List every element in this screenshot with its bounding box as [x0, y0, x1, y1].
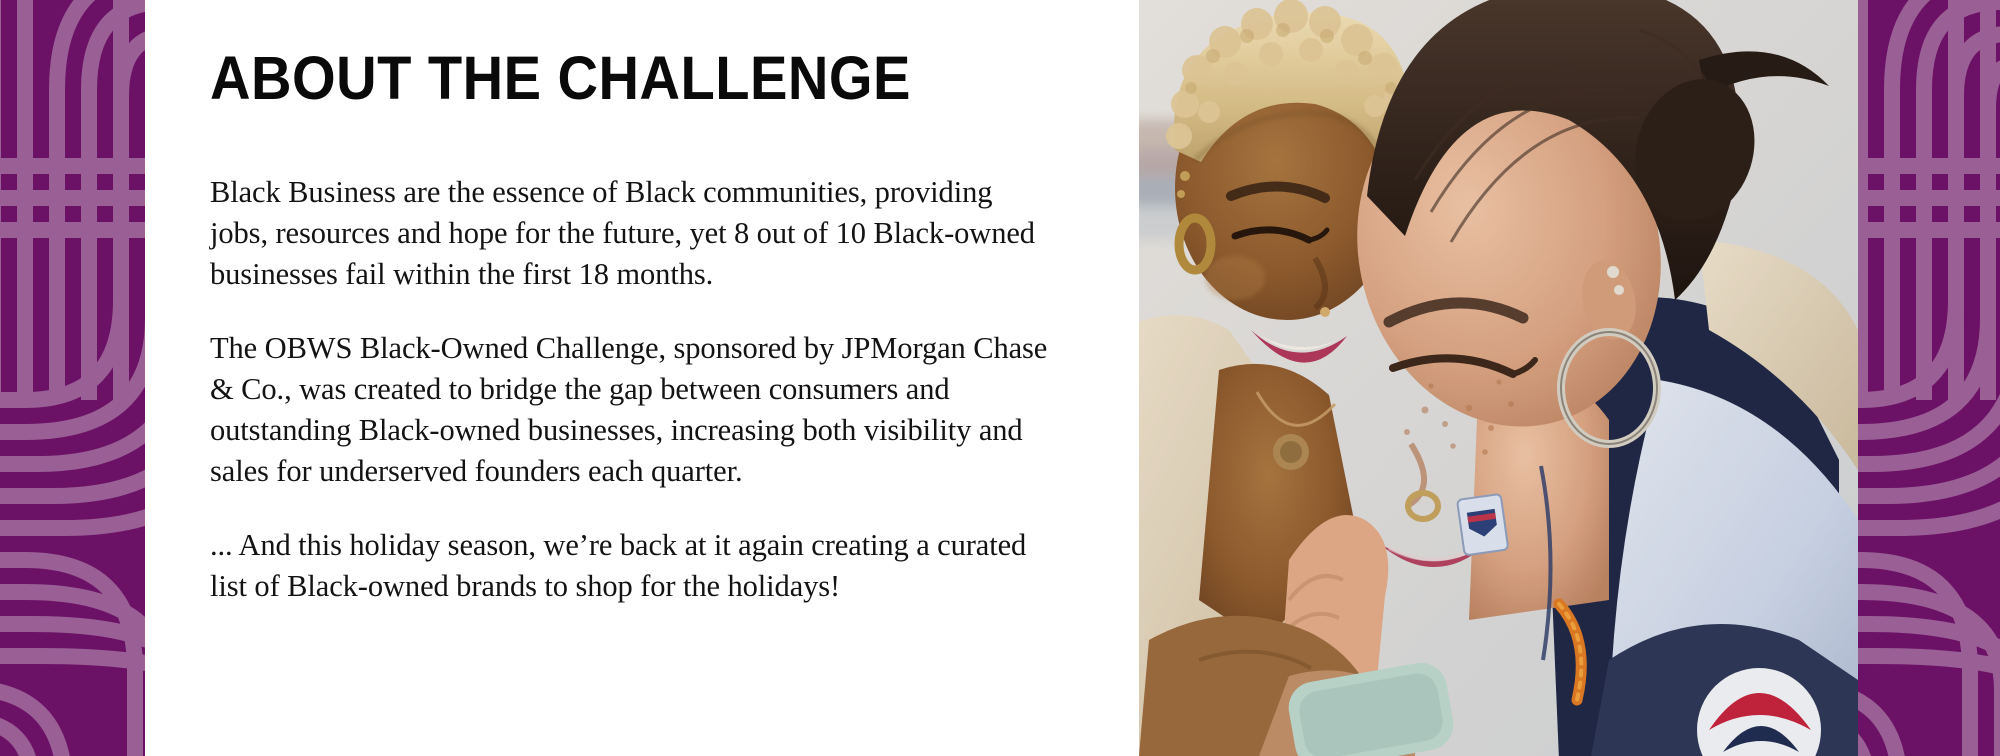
- two-women-with-phone-photo: [1139, 0, 1858, 756]
- paragraph-3: ... And this holiday season, we’re back …: [210, 525, 1055, 607]
- content-column: ABOUT THE CHALLENGE Black Business are t…: [145, 0, 1139, 756]
- page-title: ABOUT THE CHALLENGE: [210, 46, 911, 110]
- concentric-curves-pattern-icon: [1858, 0, 2000, 756]
- left-pattern-strip: [0, 0, 145, 756]
- body-copy: Black Business are the essence of Black …: [210, 172, 1055, 607]
- slide-root: ABOUT THE CHALLENGE Black Business are t…: [0, 0, 2000, 756]
- paragraph-2: The OBWS Black-Owned Challenge, sponsore…: [210, 328, 1055, 492]
- concentric-curves-pattern-icon: [0, 0, 145, 756]
- hero-photo: [1139, 0, 1858, 756]
- right-pattern-strip: [1858, 0, 2000, 756]
- paragraph-1: Black Business are the essence of Black …: [210, 172, 1055, 295]
